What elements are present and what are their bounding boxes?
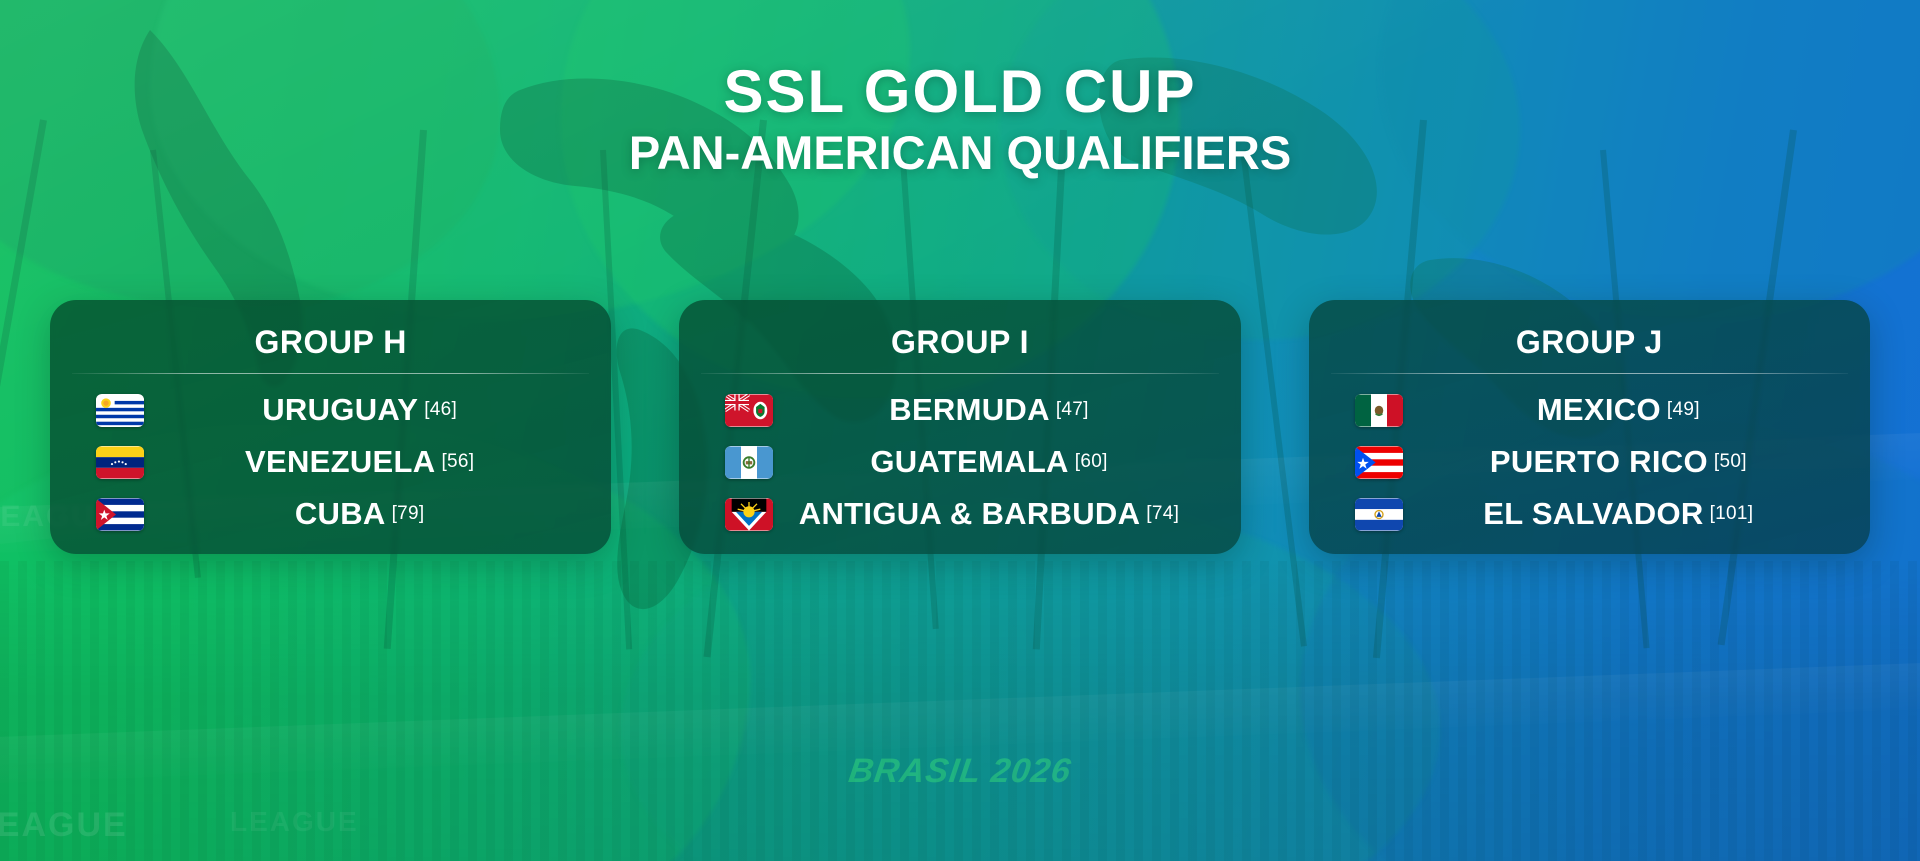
team-label: URUGUAY[46] — [144, 392, 589, 428]
team-label: PUERTO RICO[50] — [1403, 444, 1848, 480]
team-row[interactable]: VENEZUELA[56] — [72, 444, 589, 480]
team-rank: [47] — [1056, 399, 1089, 420]
mexico-flag-icon — [1355, 394, 1403, 427]
team-label: CUBA[79] — [144, 496, 589, 532]
team-rank: [79] — [392, 503, 425, 524]
team-rank: [60] — [1075, 451, 1108, 472]
team-name: EL SALVADOR — [1483, 496, 1703, 531]
brasil-2026-watermark: BRASIL 2026 — [0, 752, 1920, 791]
card-divider — [72, 373, 589, 374]
el-salvador-flag-icon — [1355, 498, 1403, 531]
team-name: BERMUDA — [889, 392, 1050, 427]
team-row[interactable]: BERMUDA[47] — [701, 392, 1218, 428]
team-label: VENEZUELA[56] — [144, 444, 589, 480]
group-title-j: GROUP J — [1331, 318, 1848, 373]
cuba-flag-icon — [96, 498, 144, 531]
team-name: ANTIGUA & BARBUDA — [799, 496, 1140, 531]
team-row[interactable]: ANTIGUA & BARBUDA[74] — [701, 496, 1218, 532]
group-card-i: GROUP I — [679, 300, 1240, 554]
card-divider — [1331, 373, 1848, 374]
group-title-h: GROUP H — [72, 318, 589, 373]
venezuela-flag-icon — [96, 446, 144, 479]
team-label: EL SALVADOR[101] — [1403, 496, 1848, 532]
card-divider — [701, 373, 1218, 374]
group-cards-container: GROUP H URUGUAY[46] — [50, 300, 1870, 554]
league-watermark: LEAGUE — [0, 806, 128, 845]
team-row[interactable]: PUERTO RICO[50] — [1331, 444, 1848, 480]
antigua-and-barbuda-flag-icon — [725, 498, 773, 531]
bermuda-flag-icon — [725, 394, 773, 427]
team-rank: [46] — [424, 399, 457, 420]
team-rank: [49] — [1667, 399, 1700, 420]
group-title-i: GROUP I — [701, 318, 1218, 373]
team-row[interactable]: CUBA[79] — [72, 496, 589, 532]
poster-title-block: SSL GOLD CUP PAN-AMERICAN QUALIFIERS — [0, 62, 1920, 177]
team-label: BERMUDA[47] — [773, 392, 1218, 428]
team-name: CUBA — [295, 496, 386, 531]
team-rank: [74] — [1146, 503, 1179, 524]
team-name: GUATEMALA — [870, 444, 1068, 479]
league-watermark: LEAGUE — [230, 806, 359, 838]
team-name: URUGUAY — [262, 392, 418, 427]
team-row[interactable]: EL SALVADOR[101] — [1331, 496, 1848, 532]
uruguay-flag-icon — [96, 394, 144, 427]
team-rank: [50] — [1714, 451, 1747, 472]
page-subtitle: PAN-AMERICAN QUALIFIERS — [0, 128, 1920, 177]
team-rank: [56] — [441, 451, 474, 472]
team-label: ANTIGUA & BARBUDA[74] — [773, 496, 1218, 532]
puerto-rico-flag-icon — [1355, 446, 1403, 479]
page-title: SSL GOLD CUP — [0, 62, 1920, 122]
team-name: MEXICO — [1537, 392, 1661, 427]
team-row[interactable]: MEXICO[49] — [1331, 392, 1848, 428]
team-label: GUATEMALA[60] — [773, 444, 1218, 480]
team-rank: [101] — [1710, 503, 1754, 524]
group-card-h: GROUP H URUGUAY[46] — [50, 300, 611, 554]
team-row[interactable]: GUATEMALA[60] — [701, 444, 1218, 480]
team-row[interactable]: URUGUAY[46] — [72, 392, 589, 428]
guatemala-flag-icon — [725, 446, 773, 479]
team-name: PUERTO RICO — [1490, 444, 1708, 479]
team-name: VENEZUELA — [245, 444, 435, 479]
group-card-j: GROUP J MEXICO[49] — [1309, 300, 1870, 554]
team-label: MEXICO[49] — [1403, 392, 1848, 428]
